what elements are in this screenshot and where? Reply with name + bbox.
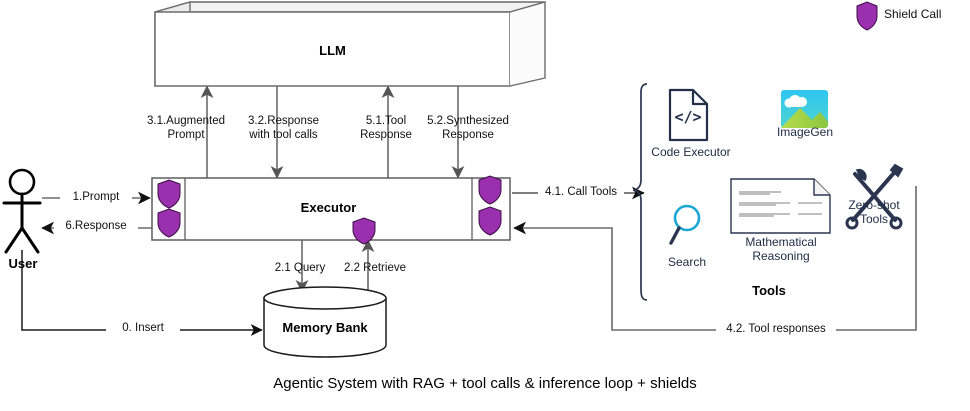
edge-label-tool-response: 5.1.Tool Response: [345, 115, 427, 142]
edge-label-tool-responses: 4.2. Tool responses: [716, 323, 836, 337]
tool-label-mathematical-reasoning: Mathematical Reasoning: [735, 236, 827, 263]
edge-label-call-tools: 4.1. Call Tools: [538, 186, 624, 200]
edge-label-retrieve: 2.2 Retrieve: [334, 262, 416, 276]
magnifier-icon: [671, 206, 699, 243]
diagram-caption: Agentic System with RAG + tool calls & i…: [0, 375, 970, 392]
legend-shield-label: Shield Call: [884, 8, 970, 22]
connector-layer: </>: [0, 0, 970, 411]
edge-label-response: 6.Response: [54, 220, 138, 234]
executor-label: Executor: [185, 200, 472, 215]
edge-label-response-tool-calls: 3.2.Response with tool calls: [236, 115, 331, 142]
user-figure-shape: [4, 170, 40, 252]
tool-label-search: Search: [655, 256, 719, 270]
memory-bank-label: Memory Bank: [264, 320, 386, 335]
edge-label-prompt: 1.Prompt: [60, 191, 132, 205]
shield-icon-legend: [857, 2, 877, 30]
code-glyph: </>: [674, 108, 701, 126]
edge-label-synthesized-response: 5.2.Synthesized Response: [418, 115, 518, 142]
edge-label-augmented-prompt: 3.1.Augmented Prompt: [141, 115, 231, 142]
math-document-icon: [731, 179, 830, 233]
tools-group-label: Tools: [728, 283, 810, 298]
edge-label-insert: 0. Insert: [106, 322, 180, 336]
tool-label-imagegen: ImageGen: [766, 126, 844, 140]
edge-label-query: 2.1 Query: [264, 262, 336, 276]
tool-label-zero-shot-tools: Zero-shot Tools: [838, 199, 910, 226]
image-icon: [781, 90, 828, 128]
user-label: User: [0, 256, 46, 271]
llm-label: LLM: [155, 43, 510, 58]
tool-label-code-executor: Code Executor: [645, 146, 737, 160]
